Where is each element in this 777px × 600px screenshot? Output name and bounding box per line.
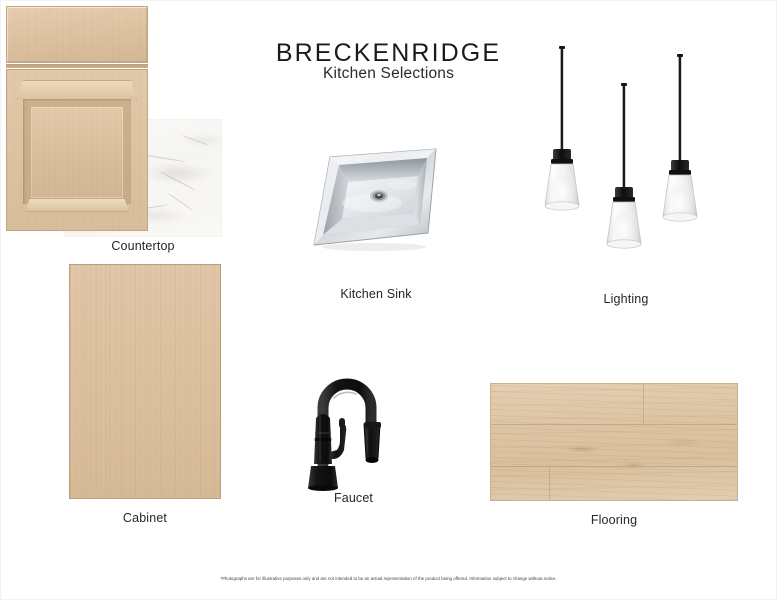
stainless-sink-icon — [306, 141, 446, 271]
flooring-label: Flooring — [490, 513, 738, 527]
pulldown-faucet-icon — [296, 346, 411, 491]
kitchen-sink-label: Kitchen Sink — [306, 287, 446, 301]
faucet-label: Faucet — [296, 491, 411, 505]
lighting-label: Lighting — [521, 292, 731, 306]
cabinet-grain-texture — [70, 265, 220, 498]
wood-plank-swatch — [490, 383, 738, 501]
cabinet-drawer-front — [6, 6, 148, 63]
cabinet-label: Cabinet — [69, 511, 221, 525]
cabinet-center-panel — [31, 107, 123, 198]
cabinet-bottom-rail — [25, 198, 129, 212]
countertop-label: Countertop — [64, 239, 222, 253]
mini-pendant-lights-icon — [521, 41, 731, 281]
selections-board: BRECKENRIDGE Kitchen Selections Countert… — [0, 0, 777, 600]
disclaimer-text: *Photographs are for illustrative purpos… — [1, 576, 776, 581]
cabinet-door — [69, 264, 221, 499]
pendant-3 — [663, 54, 697, 221]
flooring-grain-texture — [491, 384, 737, 500]
pendant-2 — [607, 83, 641, 248]
pendant-1 — [545, 46, 579, 210]
cabinet-reveal-gap — [6, 64, 148, 68]
cabinet-arch-rail — [17, 80, 137, 100]
